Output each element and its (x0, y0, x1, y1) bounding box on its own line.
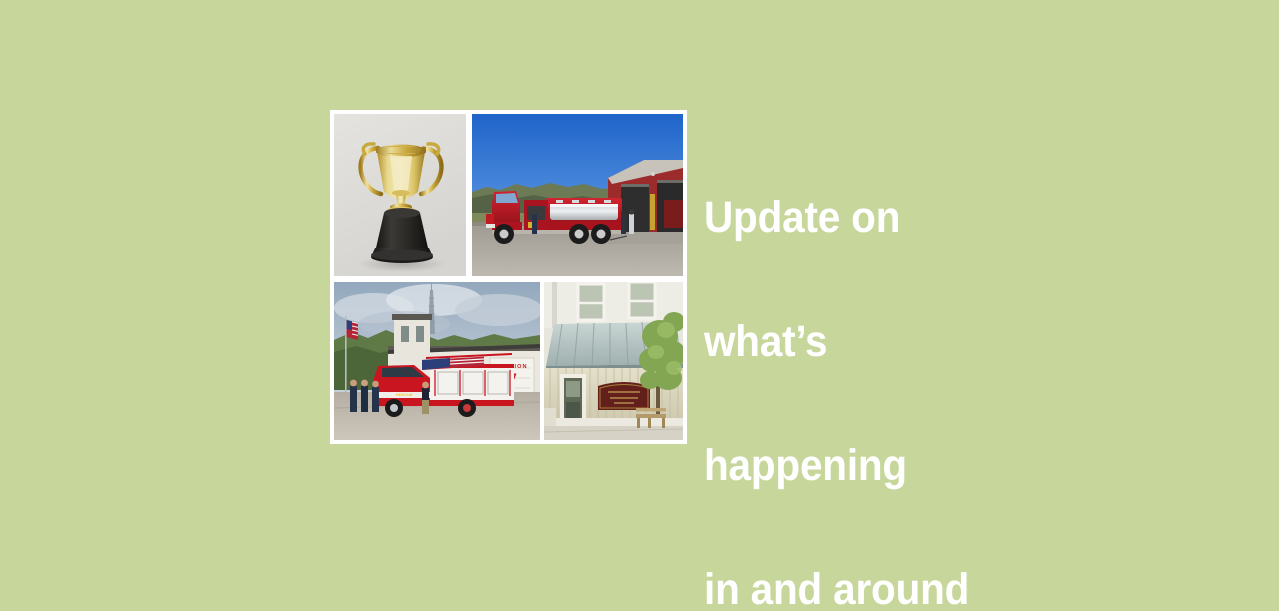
headline-line-2: what’s (704, 311, 1201, 373)
rescue-truck-photo: STATION 7 (334, 282, 540, 440)
headline-line-1: Update on (704, 187, 1201, 249)
photo-collage: STATION 7 (330, 110, 687, 444)
svg-text:RESCUE: RESCUE (396, 392, 413, 397)
town-office-photo (544, 282, 683, 440)
collage-grid: STATION 7 (334, 114, 683, 440)
headline-line-4: in and around (704, 559, 1201, 611)
headline-line-3: happening (704, 435, 1201, 497)
trophy-photo (334, 114, 466, 276)
tanker-truck-photo (472, 114, 683, 276)
headline: Update on what’s happening in and around… (704, 125, 1201, 611)
newsletter-banner: STATION 7 (0, 0, 1279, 611)
